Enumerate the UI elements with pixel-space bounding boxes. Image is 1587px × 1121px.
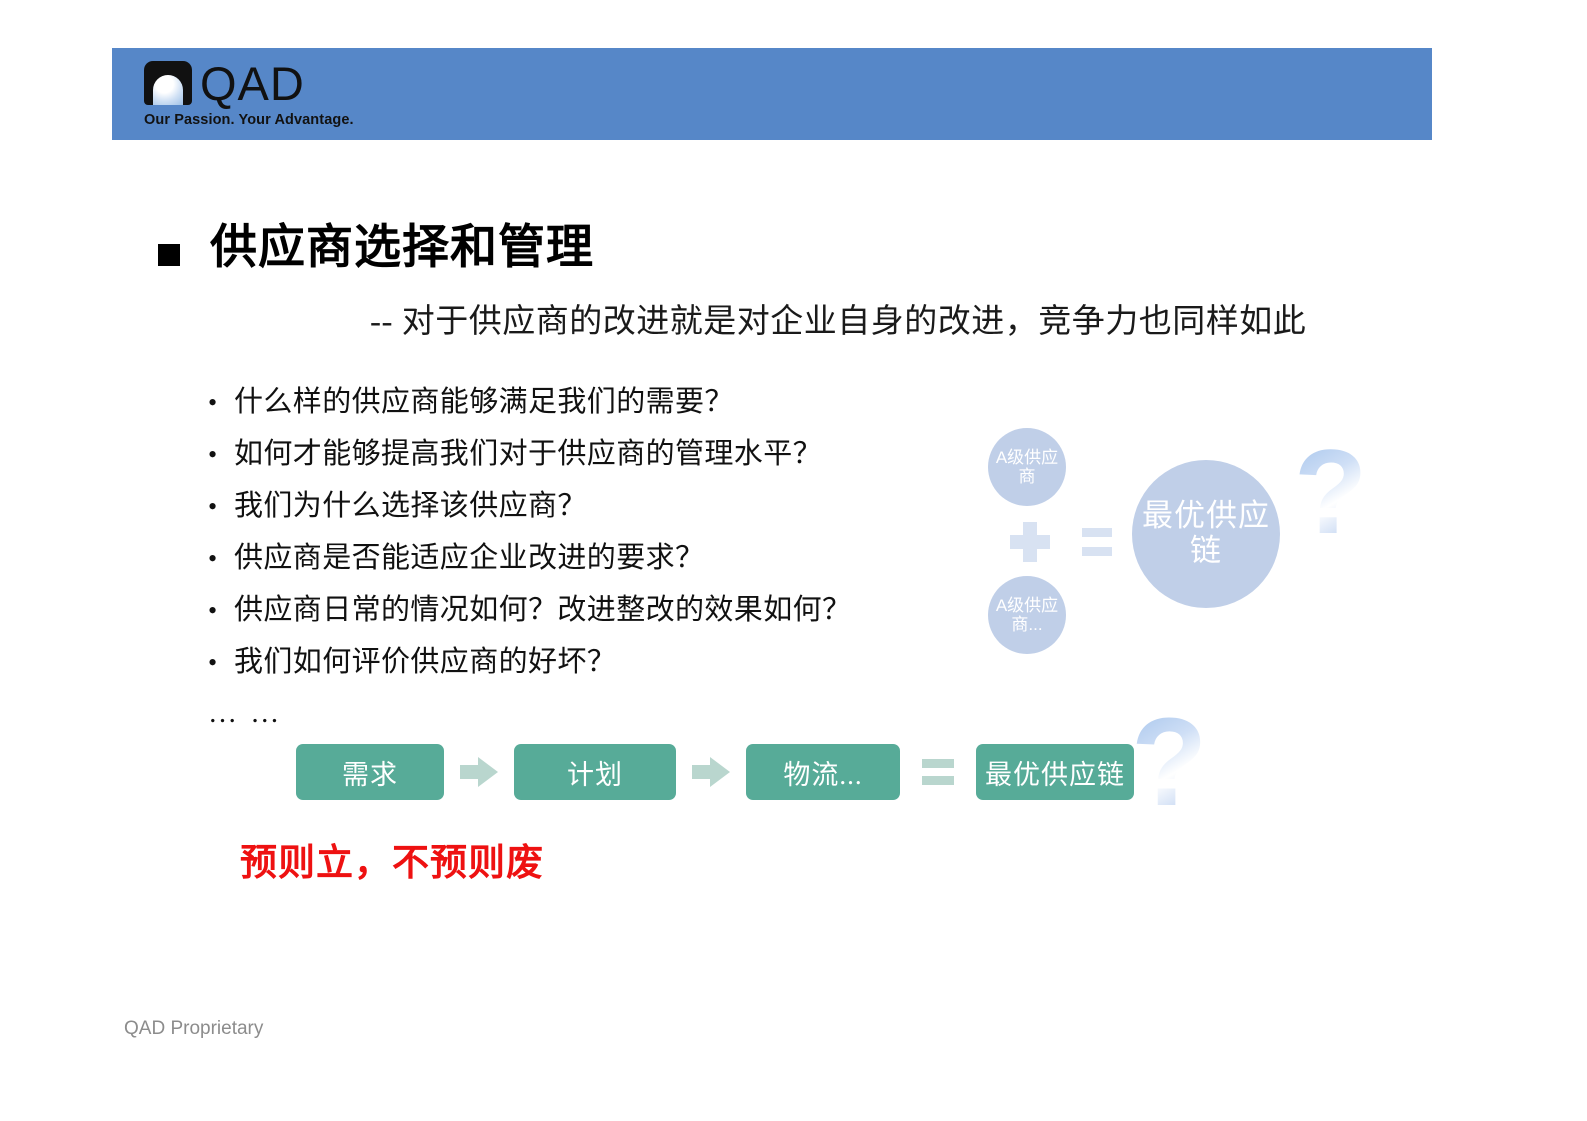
logo-tagline: Our Passion. Your Advantage.	[144, 112, 444, 128]
list-item-label: 我们为什么选择该供应商？	[234, 482, 587, 524]
circle-supplier-a-bottom-label: A级供应商...	[988, 596, 1066, 634]
flow-result-optimal-supply-chain: 最优供应链	[976, 744, 1134, 800]
list-item: • 如何才能够提高我们对于供应商的管理水平？	[208, 430, 928, 482]
footer-proprietary-text: QAD Proprietary	[124, 1018, 263, 1040]
bullet-dot-icon: •	[208, 442, 218, 468]
circle-supplier-a-top-label: A级供应商	[988, 448, 1066, 486]
circle-supplier-a-top: A级供应商	[988, 428, 1066, 506]
bullet-dot-icon: •	[208, 546, 218, 572]
flow-result-label: 最优供应链	[985, 753, 1125, 792]
logo-wordmark: QAD	[200, 60, 305, 107]
list-item-label: 如何才能够提高我们对于供应商的管理水平？	[234, 430, 822, 472]
qad-logo: QAD Our Passion. Your Advantage.	[144, 59, 444, 131]
equals-icon	[1082, 528, 1112, 556]
list-item: • 什么样的供应商能够满足我们的需要？	[208, 378, 928, 430]
list-item-label: 供应商日常的情况如何？改进整改的效果如何？	[234, 586, 851, 628]
slide-title-row: 供应商选择和管理	[158, 222, 594, 275]
list-item: • 我们如何评价供应商的好坏？	[208, 638, 928, 690]
bullet-dot-icon: •	[208, 650, 218, 676]
list-item: • 供应商日常的情况如何？改进整改的效果如何？	[208, 586, 928, 638]
process-flow: 需求 计划 物流... 最优供应链	[296, 744, 1134, 800]
list-item-label: 供应商是否能适应企业改进的要求？	[234, 534, 704, 576]
plus-icon	[1010, 522, 1050, 562]
equals-icon	[922, 759, 954, 785]
flow-step-logistics-label: 物流...	[783, 753, 862, 792]
flow-step-demand: 需求	[296, 744, 444, 800]
question-mark-icon: ?	[1131, 700, 1207, 825]
header-band: QAD Our Passion. Your Advantage.	[112, 48, 1432, 140]
question-mark-icon: ?	[1294, 432, 1367, 552]
flow-step-plan-label: 计划	[567, 753, 623, 792]
qad-logomark-icon	[144, 61, 192, 105]
bullet-list: • 什么样的供应商能够满足我们的需要？ • 如何才能够提高我们对于供应商的管理水…	[208, 378, 928, 690]
arrow-right-icon	[692, 757, 730, 787]
square-bullet-icon	[158, 244, 180, 266]
list-item: • 我们为什么选择该供应商？	[208, 482, 928, 534]
list-item: • 供应商是否能适应企业改进的要求？	[208, 534, 928, 586]
page-title: 供应商选择和管理	[210, 222, 594, 275]
flow-step-demand-label: 需求	[342, 753, 398, 792]
red-slogan: 预则立，不预则废	[240, 832, 544, 886]
logo-row: QAD	[144, 59, 444, 107]
continuation-ellipsis: … …	[208, 697, 282, 730]
arrow-right-icon	[460, 757, 498, 787]
list-item-label: 我们如何评价供应商的好坏？	[234, 638, 616, 680]
flow-step-plan: 计划	[514, 744, 676, 800]
bullet-dot-icon: •	[208, 494, 218, 520]
circle-optimal-supply-chain-label: 最优供应链	[1132, 499, 1280, 568]
circle-optimal-supply-chain: 最优供应链	[1132, 460, 1280, 608]
list-item-label: 什么样的供应商能够满足我们的需要？	[234, 378, 734, 420]
bullet-dot-icon: •	[208, 390, 218, 416]
flow-step-logistics: 物流...	[746, 744, 900, 800]
slide-subtitle: -- 对于供应商的改进就是对企业自身的改进，竞争力也同样如此	[370, 294, 1306, 342]
bullet-dot-icon: •	[208, 598, 218, 624]
circle-supplier-a-bottom: A级供应商...	[988, 576, 1066, 654]
